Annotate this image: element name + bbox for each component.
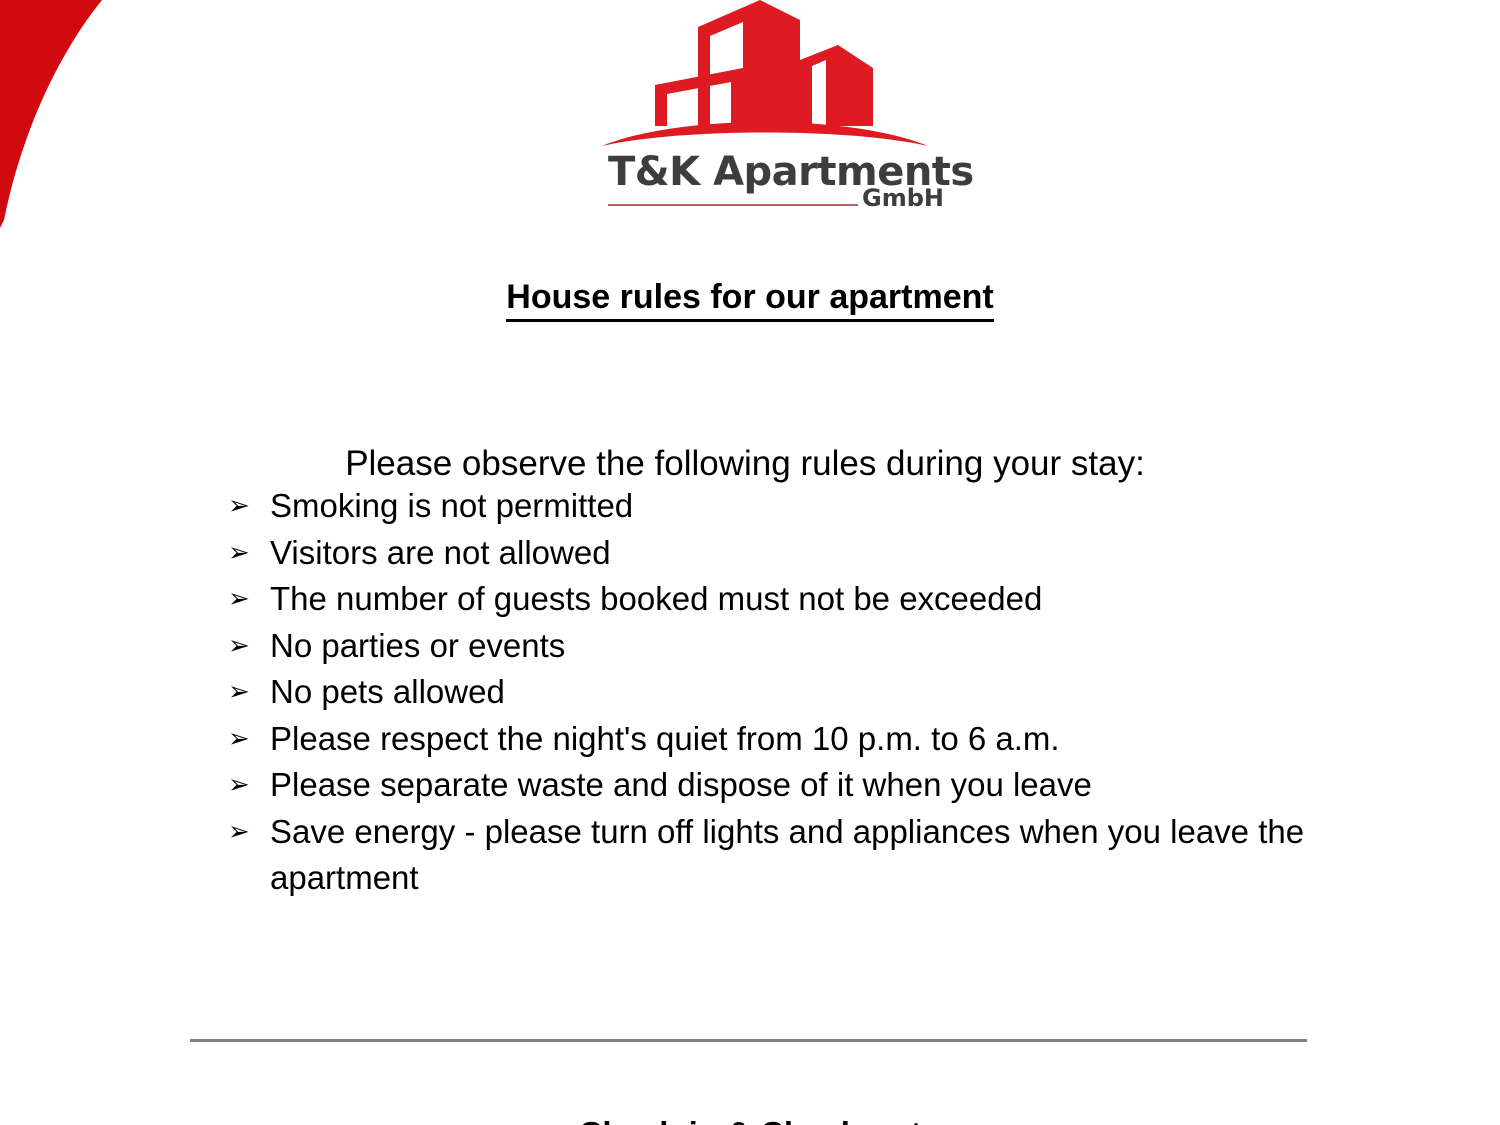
list-item: ➢ No parties or events (222, 623, 1402, 670)
list-item-label: No pets allowed (270, 673, 505, 710)
list-item-label: Please separate waste and dispose of it … (270, 766, 1092, 803)
list-item: ➢ No pets allowed (222, 669, 1402, 716)
arrow-bullet-icon: ➢ (228, 530, 250, 577)
buildings-icon (600, 0, 930, 150)
logo-wordmark: T&K Apartments GmbH (590, 152, 960, 228)
arrow-bullet-icon: ➢ (228, 669, 250, 716)
arrow-bullet-icon: ➢ (228, 576, 250, 623)
arrow-bullet-icon: ➢ (228, 762, 250, 809)
list-item-label: Visitors are not allowed (270, 534, 611, 571)
list-item-label: The number of guests booked must not be … (270, 580, 1042, 617)
list-item-label: No parties or events (270, 627, 565, 664)
page-title-text: House rules for our apartment (506, 278, 993, 322)
footer-divider (190, 1039, 1307, 1042)
list-item: ➢ Visitors are not allowed (222, 530, 1402, 577)
list-item: ➢ Smoking is not permitted (222, 483, 1402, 530)
house-rules-list: ➢ Smoking is not permitted ➢ Visitors ar… (222, 483, 1402, 902)
list-item: ➢ Save energy - please turn off lights a… (222, 809, 1402, 902)
page-title: House rules for our apartment (0, 278, 1500, 317)
list-item: ➢ Please separate waste and dispose of i… (222, 762, 1402, 809)
arrow-bullet-icon: ➢ (228, 809, 250, 856)
list-item-label: Save energy - please turn off lights and… (270, 813, 1304, 897)
red-corner-swoosh-icon (0, 0, 130, 230)
list-item: ➢ Please respect the night's quiet from … (222, 716, 1402, 763)
arrow-bullet-icon: ➢ (228, 716, 250, 763)
logo-legal-form: GmbH (862, 186, 944, 210)
list-item: ➢ The number of guests booked must not b… (222, 576, 1402, 623)
list-item-label: Please respect the night's quiet from 10… (270, 720, 1060, 757)
logo-underline-rule (608, 204, 858, 206)
arrow-bullet-icon: ➢ (228, 483, 250, 530)
arrow-bullet-icon: ➢ (228, 623, 250, 670)
list-item-label: Smoking is not permitted (270, 487, 633, 524)
intro-text: Please observe the following rules durin… (0, 443, 1490, 485)
footer-heading: Check-in & Check-out (0, 1115, 1500, 1125)
company-logo: T&K Apartments GmbH (590, 0, 960, 228)
slide-canvas: T&K Apartments GmbH House rules for our … (0, 0, 1500, 1125)
